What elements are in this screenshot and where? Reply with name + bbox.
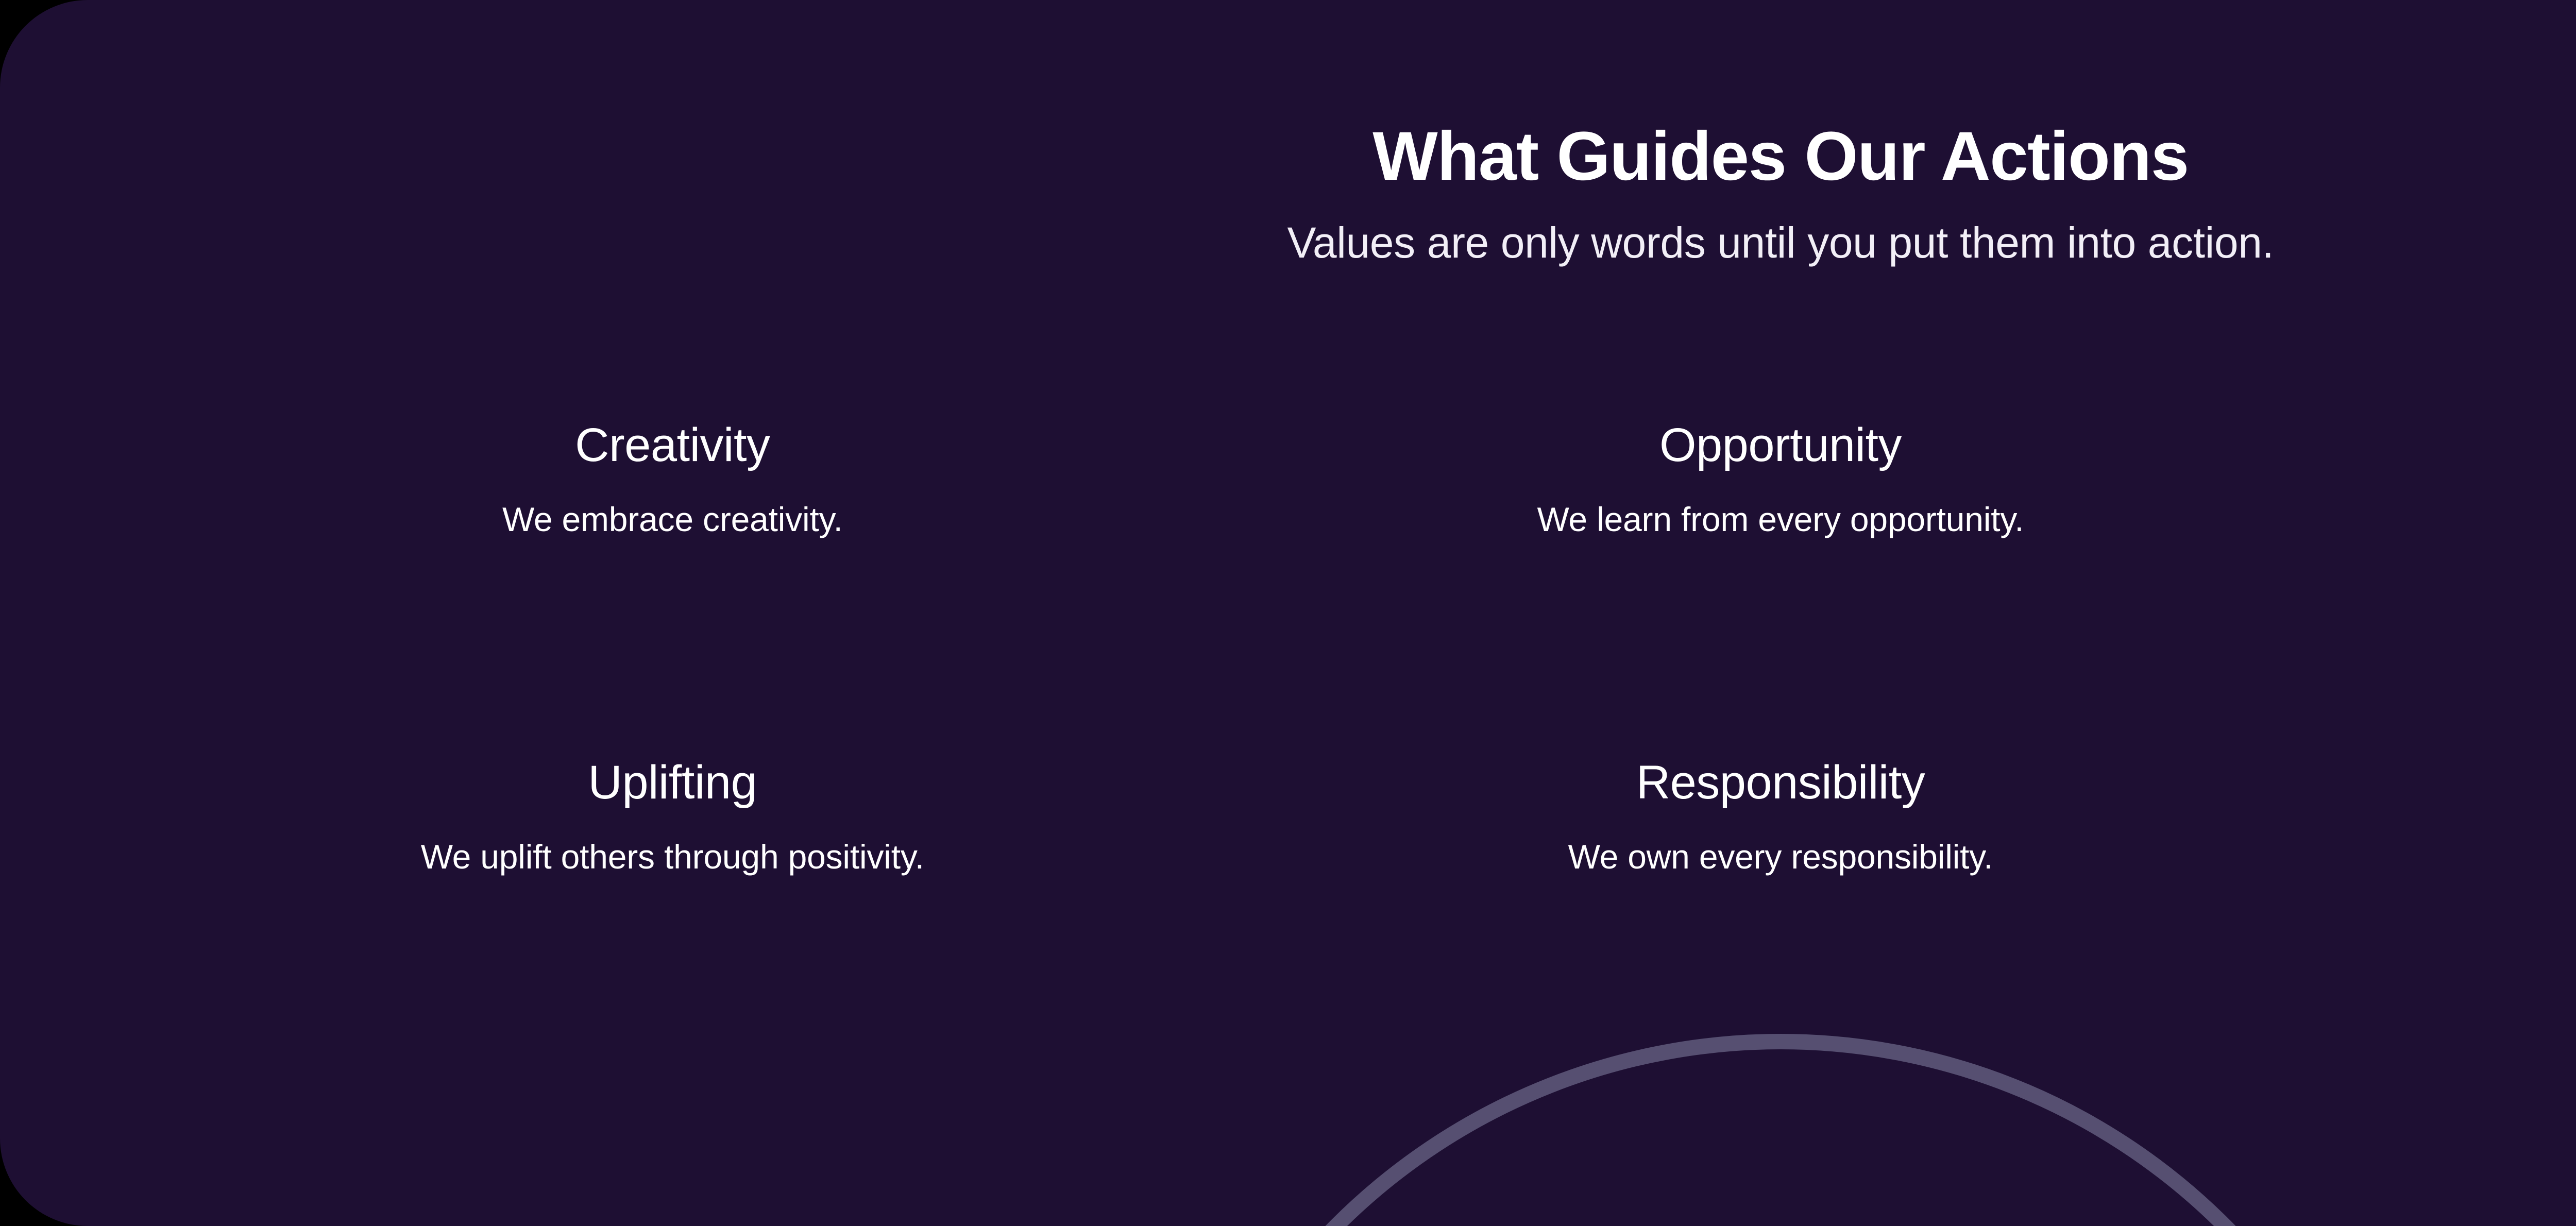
values-section: What Guides Our Actions Values are only … (0, 0, 2576, 1226)
value-card-creativity: Creativity We embrace creativity. (118, 417, 1227, 755)
page-title: What Guides Our Actions (0, 120, 2576, 194)
value-title: Creativity (575, 417, 770, 473)
value-card-quality: Quality We strive for quality. (2334, 755, 2576, 1092)
value-description: We embrace creativity. (502, 473, 843, 542)
values-grid: Creativity We embrace creativity. Opport… (118, 417, 2576, 1092)
section-header: What Guides Our Actions Values are only … (0, 120, 2576, 270)
value-title: Uplifting (588, 755, 757, 811)
value-card-uplifting: Uplifting We uplift others through posit… (118, 755, 1227, 1092)
value-title: Responsibility (1636, 755, 1925, 811)
value-card-responsibility: Responsibility We own every responsibili… (1227, 755, 2335, 1092)
value-description: We own every responsibility. (1568, 811, 1993, 880)
value-description: We uplift others through positivity. (421, 811, 924, 880)
value-card-opportunity: Opportunity We learn from every opportun… (1227, 417, 2335, 755)
value-card-honesty: Honesty We communicate often and with ho… (2334, 417, 2576, 755)
value-title: Opportunity (1659, 417, 1902, 473)
value-description: We learn from every opportunity. (1537, 473, 2024, 542)
section-subtitle: Values are only words until you put them… (0, 194, 2576, 270)
